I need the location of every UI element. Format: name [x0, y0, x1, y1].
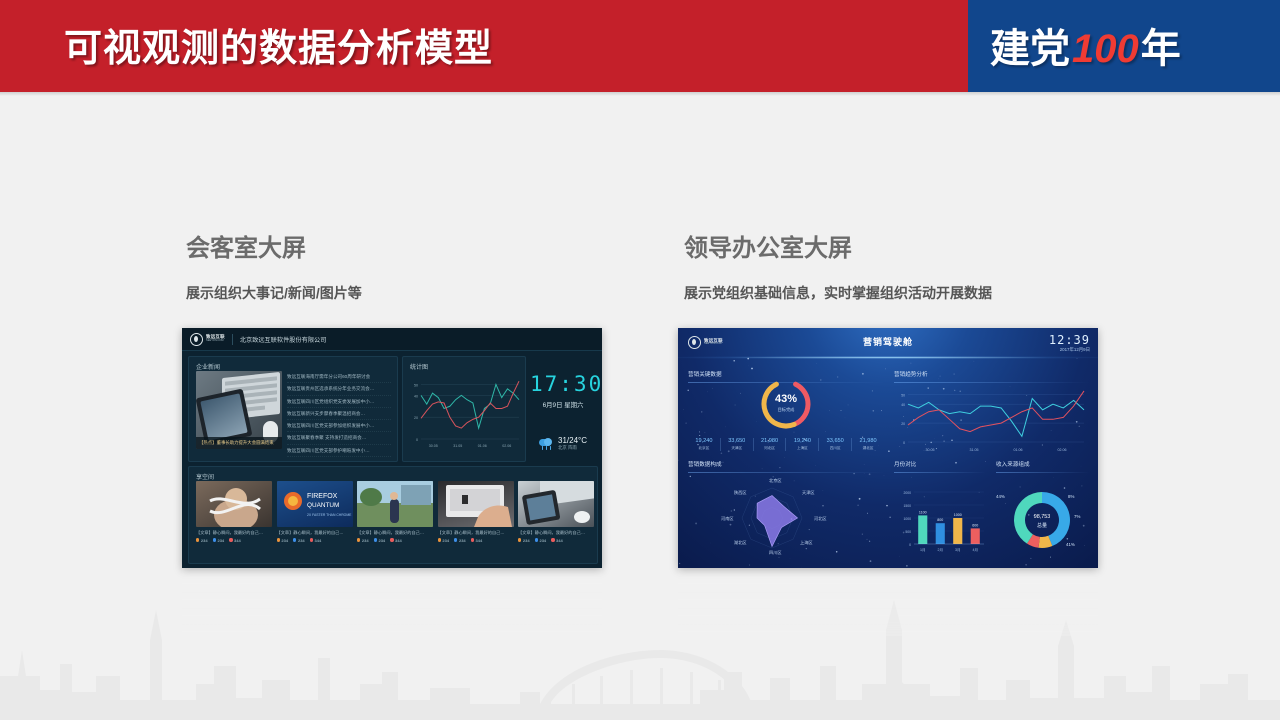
card-comments: 234 [213, 538, 225, 543]
svg-text:2月: 2月 [937, 547, 943, 552]
kpi-label: 上海区 [786, 446, 818, 451]
radar-label: 河北区 [814, 516, 827, 522]
list-item[interactable]: 致远互联新兴支步骤春季聚温招商会… [287, 408, 391, 420]
monthly-bar-chart: 050010001500200011001月8002月10003月6004月 [892, 478, 988, 564]
card-likes: 234 [277, 538, 289, 543]
news-list[interactable]: 致远互联海南厅需年分公司60周年研讨会 致远互联贵州区选承系统分年业务交流会… … [287, 371, 391, 457]
rain-cloud-icon [539, 438, 555, 450]
share-space-title: 享空间 [189, 467, 597, 481]
kpi-label: 四川区 [819, 446, 851, 451]
card-comments: 234 [293, 538, 305, 543]
news-hero-caption: 【热点】董事长助力提升大会圆满结束 [196, 437, 282, 449]
list-item[interactable]: 致远互联海南厅需年分公司60周年研讨会 [287, 371, 391, 383]
list-item[interactable]: 【文章】静心瞬间，我最好的自己… 234 234 344 [357, 481, 433, 543]
list-item[interactable]: 致远互联贵州区选承系统分年业务交流会… [287, 383, 391, 395]
news-list-items: 致远互联海南厅需年分公司60周年研讨会 致远互联贵州区选承系统分年业务交流会… … [287, 371, 391, 457]
kpi-label: 北京区 [688, 446, 720, 451]
list-item[interactable]: 致远互联聚春季聚 支持发打造招商会… [287, 432, 391, 444]
statistics-line-chart: 020405030.0531.0501.0602.06 [403, 373, 525, 459]
weather-text: 31/24°C 北京 阵雨 [558, 436, 587, 451]
kpi-cell: 19,240上海区 [786, 438, 819, 451]
left-column-title: 会客室大屏 [186, 228, 362, 263]
weather-city: 北京 阵雨 [558, 445, 587, 451]
kpi-value: 19,240 [786, 438, 818, 444]
svg-text:31.05: 31.05 [453, 444, 462, 448]
right-column-text: 领导办公室大屏 展示党组织基础信息，实时掌握组织活动开展数据 [684, 228, 992, 303]
dashboard-title: 营销驾驶舱 [678, 335, 1098, 348]
radar-section-rule [688, 472, 884, 473]
svg-text:40: 40 [414, 394, 418, 398]
page-title: 可视观测的数据分析模型 [64, 17, 493, 72]
card-title: 【文章】静心瞬间，我最好的自己… [438, 530, 514, 536]
svg-text:3月: 3月 [955, 547, 961, 552]
list-item[interactable]: 致远互联四川区党支部参护嘲喧发中小… [287, 445, 391, 457]
list-item[interactable]: 致远互联四川区党支部参加组织发展中小… [287, 420, 391, 432]
clock-date: 2017年12月9日 [1049, 347, 1090, 353]
list-item[interactable]: FIREFOX QUANTUM 2X FASTER THAN CHROME 【文… [277, 481, 353, 543]
clock-date: 6月9日 星期六 [530, 400, 596, 409]
card-thumbnail [196, 481, 272, 527]
kpi-cell: 21,980湖北区 [852, 438, 884, 451]
kpi-value: 33,650 [721, 438, 753, 444]
svg-text:1100: 1100 [919, 510, 927, 514]
company-name: 北京致远互联软件股份有限公司 [240, 335, 327, 344]
svg-text:2000: 2000 [903, 491, 911, 495]
radar-section-title: 营销数据构成 [688, 460, 722, 468]
chart-panel-title: 统计图 [403, 357, 525, 371]
dashboard-body: 企业新闻 【热点】董事长助力提升大会圆满结束 致远互联海南厅需 [182, 350, 602, 568]
svg-text:FIREFOX: FIREFOX [307, 493, 338, 500]
right-screenshot-wrapper: 营销驾驶舱 致远互联 SEEYON.COM 12:39 2017年12月9日 营… [678, 328, 1098, 568]
pie-pct-label: 41% [1066, 542, 1075, 547]
svg-text:0: 0 [903, 441, 905, 445]
card-stats: 234 234 344 [277, 538, 353, 543]
logo-divider [232, 334, 233, 345]
share-space-panel[interactable]: 享空间 【文章】静心瞬间，我最好的自己… 234 234 344 [188, 466, 598, 564]
right-column-subtitle: 展示党组织基础信息，实时掌握组织活动开展数据 [684, 283, 992, 303]
right-screenshot-reflection: 营销驾驶舱 致远互联 SEEYON.COM 12:39 2017年12月9日 营… [678, 568, 1098, 636]
svg-text:600: 600 [972, 523, 978, 527]
dark-dashboard-canvas: 致远互联 SEEYON.COM 北京致远互联软件股份有限公司 企业新闻 [182, 328, 602, 568]
svg-text:0: 0 [909, 543, 911, 547]
slogan-prefix: 建党 [990, 27, 1070, 71]
brand-domain: SEEYON.COM [704, 343, 723, 346]
seeyon-logo: 致远互联 SEEYON.COM [688, 336, 723, 349]
card-title: 【文章】静心瞬间，我最好的自己… [277, 530, 353, 536]
card-title: 【文章】静心瞬间，我最好的自己… [357, 530, 433, 536]
svg-text:QUANTUM: QUANTUM [307, 502, 339, 509]
kpi-value: 21,980 [754, 438, 786, 444]
svg-text:1500: 1500 [903, 504, 911, 508]
leader-office-dashboard-screenshot[interactable]: 营销驾驶舱 致远互联 SEEYON.COM 12:39 2017年12月9日 营… [678, 328, 1098, 568]
svg-text:2X FASTER THAN CHROME: 2X FASTER THAN CHROME [307, 513, 352, 517]
svg-text:20: 20 [901, 422, 905, 426]
card-title: 【文章】静心瞬间，我最好的自己… [196, 530, 272, 536]
clock-time: 12:39 [1049, 333, 1090, 347]
dashboard-topbar: 致远互联 SEEYON.COM 北京致远互联软件股份有限公司 [182, 328, 602, 351]
pie-pct-label: 7% [1074, 514, 1080, 519]
news-panel[interactable]: 企业新闻 【热点】董事长助力提升大会圆满结束 致远互联海南厅需 [188, 356, 398, 462]
svg-text:1000: 1000 [903, 517, 911, 521]
header-underline [0, 92, 1280, 96]
goal-gauge: 43% 目标完成 [756, 374, 816, 434]
blue-dashboard-canvas: 营销驾驶舱 致远互联 SEEYON.COM 12:39 2017年12月9日 营… [678, 328, 1098, 568]
svg-text:40: 40 [901, 403, 905, 407]
card-stats: 234 234 344 [357, 538, 433, 543]
dashboard-clock: 12:39 2017年12月9日 [1049, 333, 1090, 353]
news-panel-title: 企业新闻 [189, 357, 397, 371]
card-comments: 234 [374, 538, 386, 543]
radar-label: 四川区 [769, 550, 782, 556]
meeting-room-dashboard-screenshot[interactable]: 致远互联 SEEYON.COM 北京致远互联软件股份有限公司 企业新闻 [182, 328, 602, 568]
kpi-section-title: 营销关键数据 [688, 370, 722, 378]
news-hero-image[interactable]: 【热点】董事长助力提升大会圆满结束 [196, 371, 282, 449]
card-views: 344 [310, 538, 322, 543]
kpi-cell: 19,240北京区 [688, 438, 721, 451]
kpi-label: 湖北区 [852, 446, 884, 451]
page-header: 可视观测的数据分析模型 建党100年 [0, 0, 1280, 92]
card-likes: 234 [518, 538, 530, 543]
pie-pct-label: 44% [996, 494, 1005, 499]
kpi-row: 19,240北京区 33,650天津区 21,980河北区 19,240上海区 … [688, 438, 884, 451]
list-item[interactable]: 【文章】静心瞬间，我最好的自己… 234 234 344 [438, 481, 514, 543]
brand-domain: SEEYON.COM [206, 340, 225, 343]
kpi-value: 33,650 [819, 438, 851, 444]
seeyon-logo-icon [190, 333, 203, 346]
radar-label: 上海区 [800, 540, 813, 546]
left-screenshot-wrapper: 致远互联 SEEYON.COM 北京致远互联软件股份有限公司 企业新闻 [182, 328, 602, 568]
svg-text:30.05: 30.05 [926, 448, 935, 452]
svg-text:1月: 1月 [920, 547, 926, 552]
card-likes: 234 [438, 538, 450, 543]
clock-weather-panel: 17:30 6月9日 星期六 31/24°C 北京 阵雨 [530, 356, 596, 460]
card-likes: 234 [196, 538, 208, 543]
svg-text:30.05: 30.05 [429, 444, 438, 448]
kpi-cell: 21,980河北区 [754, 438, 787, 451]
svg-text:02.06: 02.06 [502, 444, 511, 448]
right-column-title: 领导办公室大屏 [684, 228, 992, 263]
svg-text:01.06: 01.06 [1014, 448, 1023, 452]
radar-chart [686, 476, 882, 562]
weather-temperature: 31/24°C [558, 436, 587, 445]
trend-section-title: 营销趋势分析 [894, 370, 928, 378]
list-item[interactable]: 【文章】静心瞬间，我最好的自己… 234 234 344 [518, 481, 594, 543]
svg-text:0: 0 [416, 438, 418, 442]
svg-text:500: 500 [905, 530, 911, 534]
card-thumbnail [357, 481, 433, 527]
radar-label: 湖北区 [734, 540, 747, 546]
kpi-value: 21,980 [852, 438, 884, 444]
radar-label: 河南区 [721, 516, 734, 522]
svg-text:1000: 1000 [954, 513, 962, 517]
card-comments: 234 [454, 538, 466, 543]
kpi-value: 19,240 [688, 438, 720, 444]
statistics-chart-panel[interactable]: 统计图 020405030.0531.0501.0602.06 [402, 356, 526, 462]
left-screenshot-reflection: 致远互联 SEEYON.COM 北京致远互联软件股份有限公司 企业新闻 [182, 568, 602, 636]
bar-section-title: 月份对比 [894, 460, 916, 468]
svg-text:800: 800 [937, 518, 943, 522]
svg-text:20: 20 [414, 416, 418, 420]
card-views: 344 [551, 538, 563, 543]
card-views: 344 [390, 538, 402, 543]
list-item[interactable]: 【文章】静心瞬间，我最好的自己… 234 234 344 [196, 481, 272, 543]
anniversary-slogan: 建党100年 [990, 16, 1181, 74]
seeyon-logo-icon [688, 336, 701, 349]
card-stats: 234 234 344 [196, 538, 272, 543]
card-title: 【文章】静心瞬间，我最好的自己… [518, 530, 594, 536]
clock-time: 17:30 [530, 372, 596, 396]
header-glow-line [678, 356, 1098, 359]
svg-text:50: 50 [901, 394, 905, 398]
left-column-text: 会客室大屏 展示组织大事记/新闻/图片等 [186, 228, 362, 303]
pie-pct-label: 8% [1068, 494, 1074, 499]
slogan-number: 100 [1070, 27, 1141, 71]
svg-text:01.06: 01.06 [478, 444, 487, 448]
seeyon-logo-text: 致远互联 SEEYON.COM [704, 339, 723, 346]
trend-section-rule [894, 382, 1090, 383]
svg-text:4月: 4月 [972, 547, 978, 552]
pie-section-rule [996, 472, 1090, 473]
revenue-pie-chart [994, 478, 1090, 564]
radar-label: 陕西区 [734, 490, 747, 496]
svg-text:50: 50 [414, 383, 418, 387]
kpi-cell: 33,650四川区 [819, 438, 852, 451]
pie-section-title: 收入来源组成 [996, 460, 1030, 468]
card-thumbnail: FIREFOX QUANTUM 2X FASTER THAN CHROME [277, 481, 353, 527]
kpi-label: 河北区 [754, 446, 786, 451]
card-stats: 234 234 344 [518, 538, 594, 543]
radar-label: 天津区 [802, 490, 815, 496]
gauge-label: 目标完成 [756, 407, 816, 413]
card-views: 344 [229, 538, 241, 543]
seeyon-logo-text: 致远互联 SEEYON.COM [206, 335, 225, 342]
card-stats: 234 234 344 [438, 538, 514, 543]
weather-block: 31/24°C 北京 阵雨 [530, 436, 596, 451]
svg-text:31.05: 31.05 [970, 448, 979, 452]
svg-text:02.06: 02.06 [1058, 448, 1067, 452]
bar-section-rule [894, 472, 986, 473]
radar-label: 北京区 [769, 478, 782, 484]
card-likes: 234 [357, 538, 369, 543]
share-space-cards: 【文章】静心瞬间，我最好的自己… 234 234 344 [196, 481, 594, 543]
card-thumbnail [518, 481, 594, 527]
slogan-suffix: 年 [1141, 27, 1181, 71]
card-views: 344 [471, 538, 483, 543]
card-thumbnail [438, 481, 514, 527]
gauge-value: 43% [756, 393, 816, 405]
pie-center-label: 总量 [994, 522, 1090, 529]
left-column-subtitle: 展示组织大事记/新闻/图片等 [186, 283, 362, 303]
kpi-label: 天津区 [721, 446, 753, 451]
list-item[interactable]: 致远互联四川区党组织党支委发展加中小… [287, 396, 391, 408]
trend-line-chart: 020405030.0531.0501.0602.06 [890, 384, 1090, 460]
card-comments: 234 [535, 538, 547, 543]
kpi-cell: 33,650天津区 [721, 438, 754, 451]
